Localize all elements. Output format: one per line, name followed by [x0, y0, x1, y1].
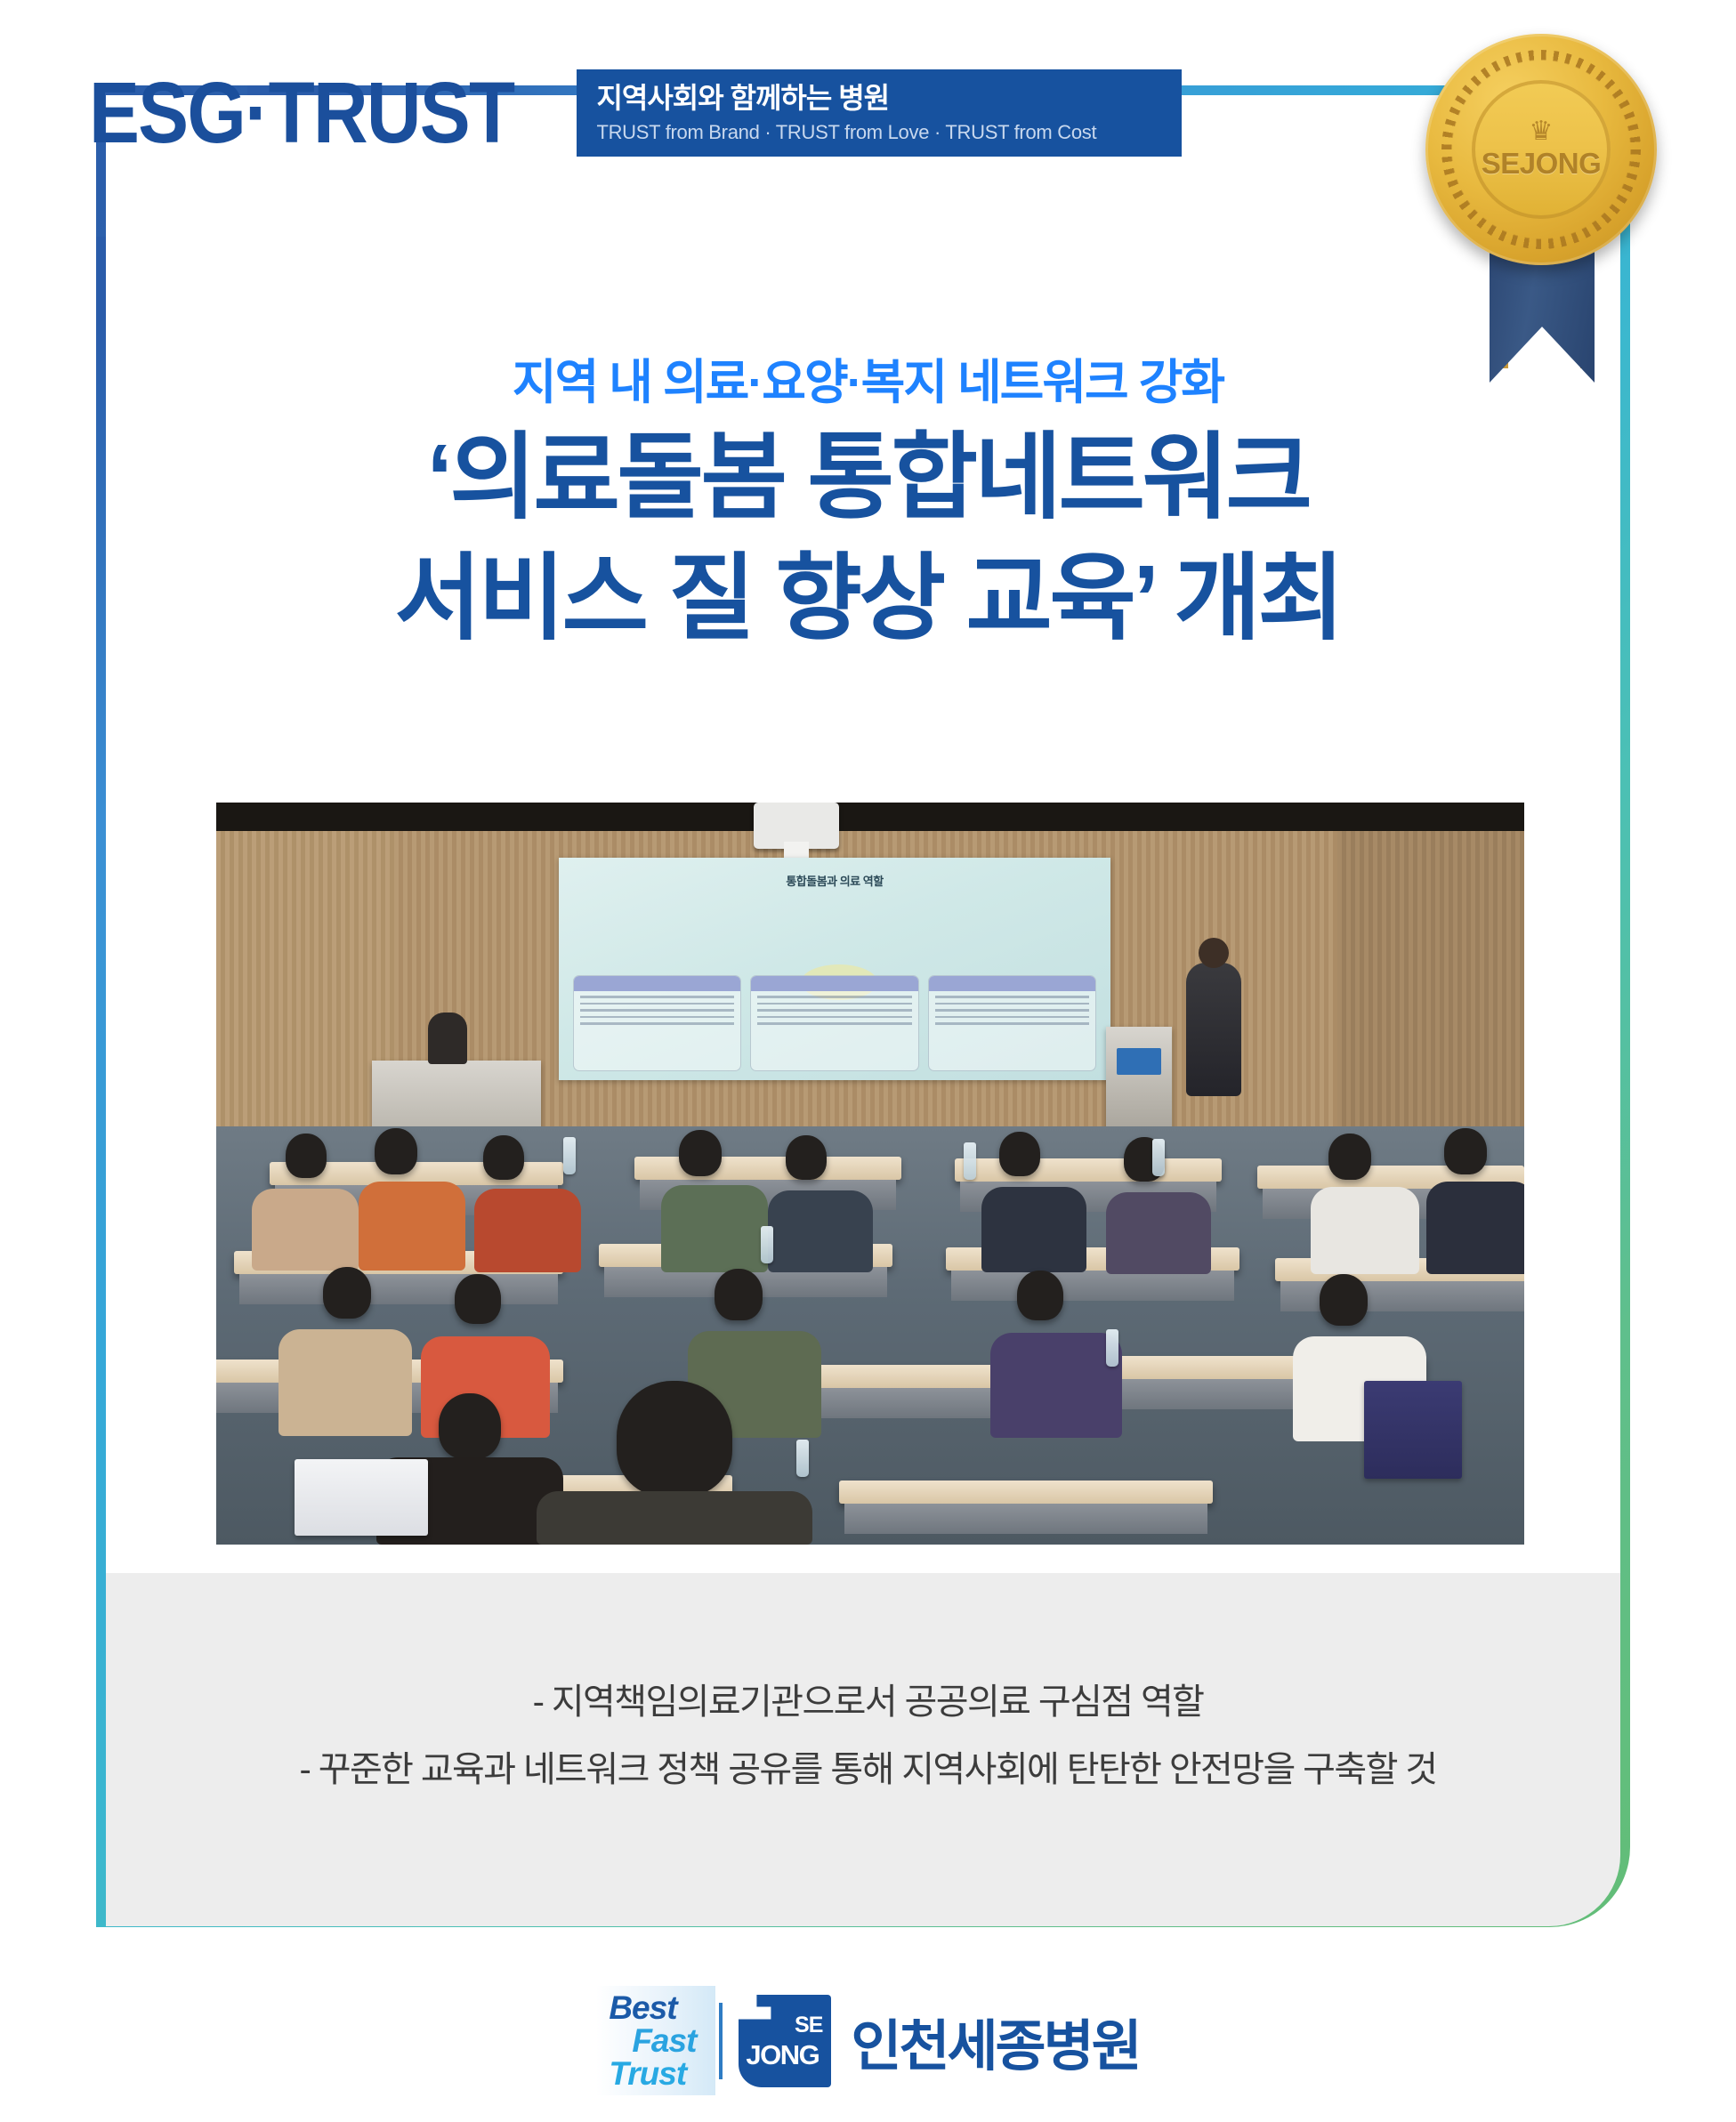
medal-label: SEJONG [1482, 147, 1602, 181]
award-medal: ♛ SEJONG [1425, 34, 1657, 390]
attendee [679, 1130, 722, 1176]
front-table [372, 1061, 541, 1135]
slide-card-line [580, 1003, 734, 1005]
photo-floor [216, 1126, 1524, 1545]
slide-card-header [574, 976, 740, 991]
tote-bag [1364, 1381, 1462, 1479]
attendee-torso [661, 1185, 768, 1272]
attendee [1328, 1134, 1371, 1180]
slide-card-line [757, 1003, 911, 1005]
water-bottle [1106, 1329, 1118, 1367]
slide-card [750, 975, 918, 1071]
event-photo: 통합돌봄과 의료 역할 [216, 803, 1524, 1545]
esg-trust-wordmark: ESG·TRUST [89, 69, 519, 157]
audience-desk [839, 1481, 1213, 1504]
audience-desk [634, 1157, 901, 1180]
page-title: ‘의료돌봄 통합네트워크 서비스 질 향상 교육’ 개최 [0, 418, 1736, 659]
lectern [1106, 1027, 1172, 1132]
water-bottle [964, 1142, 976, 1180]
slide-card-line [935, 1016, 1089, 1019]
attendee [323, 1267, 371, 1319]
attendee-foreground [617, 1381, 732, 1497]
brand-banner-english: TRUST from Brand · TRUST from Love · TRU… [596, 121, 1160, 144]
logo-text-se: SE [795, 2014, 822, 2037]
slide-card-header [929, 976, 1095, 991]
slide-title: 통합돌봄과 의료 역할 [571, 872, 1098, 889]
attendee [1444, 1128, 1487, 1174]
poster-card: ESG·TRUST 지역사회와 함께하는 병원 TRUST from Brand… [0, 0, 1736, 2122]
logo-text-jong: JONG [746, 2041, 819, 2069]
projector-icon [754, 803, 839, 849]
attendee-torso [359, 1182, 465, 1271]
slide-card-line [757, 996, 911, 998]
attendee-torso [990, 1333, 1122, 1438]
slide-card-line [580, 1022, 734, 1025]
attendee [286, 1134, 327, 1178]
attendee-torso [537, 1491, 812, 1545]
attendee-torso [768, 1190, 873, 1272]
brand-banner: 지역사회와 함께하는 병원 TRUST from Brand · TRUST f… [577, 69, 1182, 157]
attendee-torso [1106, 1192, 1211, 1274]
tote-bag [295, 1459, 428, 1536]
page-title-line-1: ‘의료돌봄 통합네트워크 [0, 418, 1736, 539]
medal-disc: ♛ SEJONG [1425, 34, 1657, 265]
water-bottle [563, 1137, 576, 1174]
tagline-best: Best [609, 1991, 676, 2024]
photo-ceiling [216, 803, 1524, 831]
attendee [1017, 1271, 1063, 1320]
attendee-torso [1426, 1182, 1524, 1274]
slide-card-line [580, 1016, 734, 1019]
attendee [375, 1128, 417, 1174]
slide-card-line [757, 1016, 911, 1019]
footer-lockup: Best Fast Trust SE JONG 인천세종병원 [0, 1986, 1736, 2095]
attendee-torso [981, 1187, 1086, 1272]
hospital-name: 인천세종병원 [851, 2001, 1139, 2081]
water-bottle [1152, 1139, 1165, 1176]
attendee [715, 1269, 763, 1320]
slide-card [928, 975, 1096, 1071]
tagline-fast: Fast [609, 2024, 696, 2057]
attendee [455, 1274, 501, 1324]
slide-card-line [580, 996, 734, 998]
slide-card-line [935, 1022, 1089, 1025]
cross-notch-icon [737, 1993, 779, 2034]
slide-card-line [757, 1022, 911, 1025]
attendee [999, 1132, 1040, 1176]
summary-bullet: - 지역책임의료기관으로서 공공의료 구심점 역할 [0, 1668, 1736, 1736]
water-bottle [761, 1226, 773, 1263]
page-title-line-2: 서비스 질 향상 교육’ 개최 [0, 539, 1736, 660]
medal-face: ♛ SEJONG [1472, 80, 1611, 219]
slide-card-line [580, 1009, 734, 1012]
best-fast-trust-tagline: Best Fast Trust [596, 1986, 715, 2095]
slide-card-line [757, 1009, 911, 1012]
slide-card-line [935, 996, 1089, 998]
presenter [1186, 963, 1241, 1096]
attendee-torso [279, 1329, 412, 1436]
audience-desk [955, 1158, 1222, 1182]
water-bottle [796, 1440, 809, 1477]
attendee [483, 1135, 524, 1180]
summary-bullets: - 지역책임의료기관으로서 공공의료 구심점 역할 - 꾸준한 교육과 네트워크… [0, 1668, 1736, 1803]
crown-icon: ♛ [1530, 118, 1554, 145]
seated-staff [428, 1013, 467, 1064]
slide-card-row [573, 975, 1096, 1071]
sejong-logo-icon: SE JONG [739, 1995, 831, 2087]
footer-divider [719, 2003, 723, 2079]
presentation-screen: 통합돌봄과 의료 역할 [559, 858, 1110, 1080]
tagline-trust: Trust [609, 2057, 686, 2090]
attendee [786, 1135, 827, 1180]
attendee [1320, 1274, 1368, 1326]
brand-header: ESG·TRUST 지역사회와 함께하는 병원 TRUST from Brand… [89, 69, 1182, 157]
slide-card-line [935, 1009, 1089, 1012]
attendee-torso [1311, 1187, 1419, 1274]
slide-card-header [751, 976, 917, 991]
eyebrow-text: 지역 내 의료·요양·복지 네트워크 강화 [0, 343, 1736, 413]
slide-card [573, 975, 741, 1071]
slide-card-line [935, 1003, 1089, 1005]
attendee [439, 1393, 501, 1459]
attendee-torso [474, 1189, 581, 1272]
brand-banner-korean: 지역사회와 함께하는 병원 [596, 82, 1160, 115]
attendee-torso [252, 1189, 359, 1271]
summary-bullet: - 꾸준한 교육과 네트워크 정책 공유를 통해 지역사회에 탄탄한 안전망을 … [0, 1736, 1736, 1803]
